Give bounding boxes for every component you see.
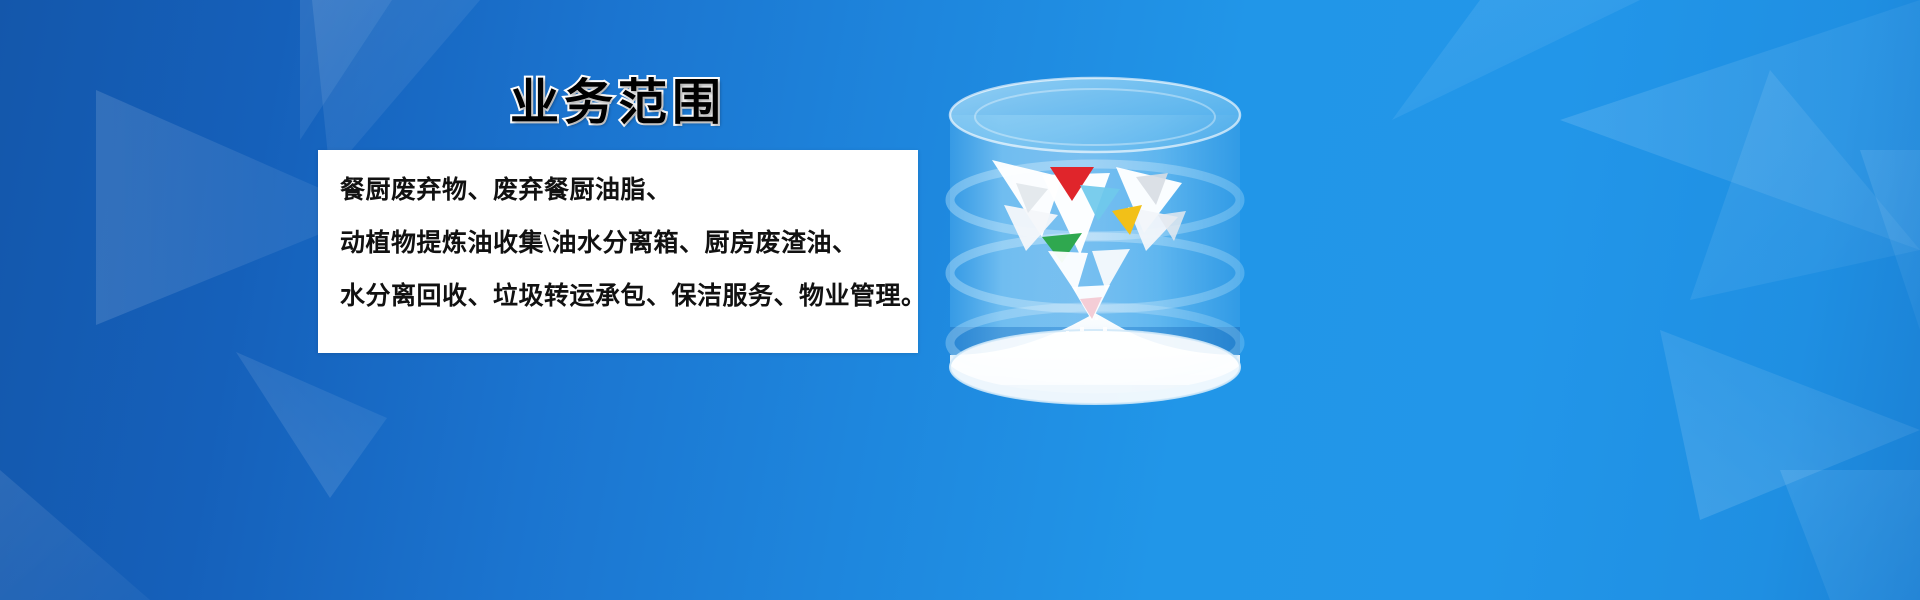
cylinder-bottom-cap <box>950 330 1240 404</box>
triangle-right-large <box>1560 0 1920 250</box>
cylinder-top-cap <box>950 78 1240 152</box>
business-scope-card: 餐厨废弃物、废弃餐厨油脂、 动植物提炼油收集\油水分离箱、厨房废渣油、 水分离回… <box>318 150 918 353</box>
triangle-right-lower <box>1660 330 1920 520</box>
page-title: 业务范围 <box>318 76 918 130</box>
scope-line-3: 水分离回收、垃圾转运承包、保洁服务、物业管理。 <box>340 284 898 309</box>
triangle-far-right-edge <box>1860 150 1920 330</box>
triangle-right-bottom <box>1780 470 1920 600</box>
triangle-bottomleft-wedge <box>0 470 150 600</box>
scope-line-1: 餐厨废弃物、废弃餐厨油脂、 <box>340 178 898 203</box>
scope-line-2: 动植物提炼油收集\油水分离箱、厨房废渣油、 <box>340 231 898 256</box>
recycling-cylinder-illustration <box>930 55 1260 415</box>
triangle-right-top <box>1392 0 1640 120</box>
business-scope-banner: 业务范围 餐厨废弃物、废弃餐厨油脂、 动植物提炼油收集\油水分离箱、厨房废渣油、… <box>0 0 1920 600</box>
triangle-right-mid <box>1690 70 1920 300</box>
triangle-left-small <box>236 352 387 498</box>
